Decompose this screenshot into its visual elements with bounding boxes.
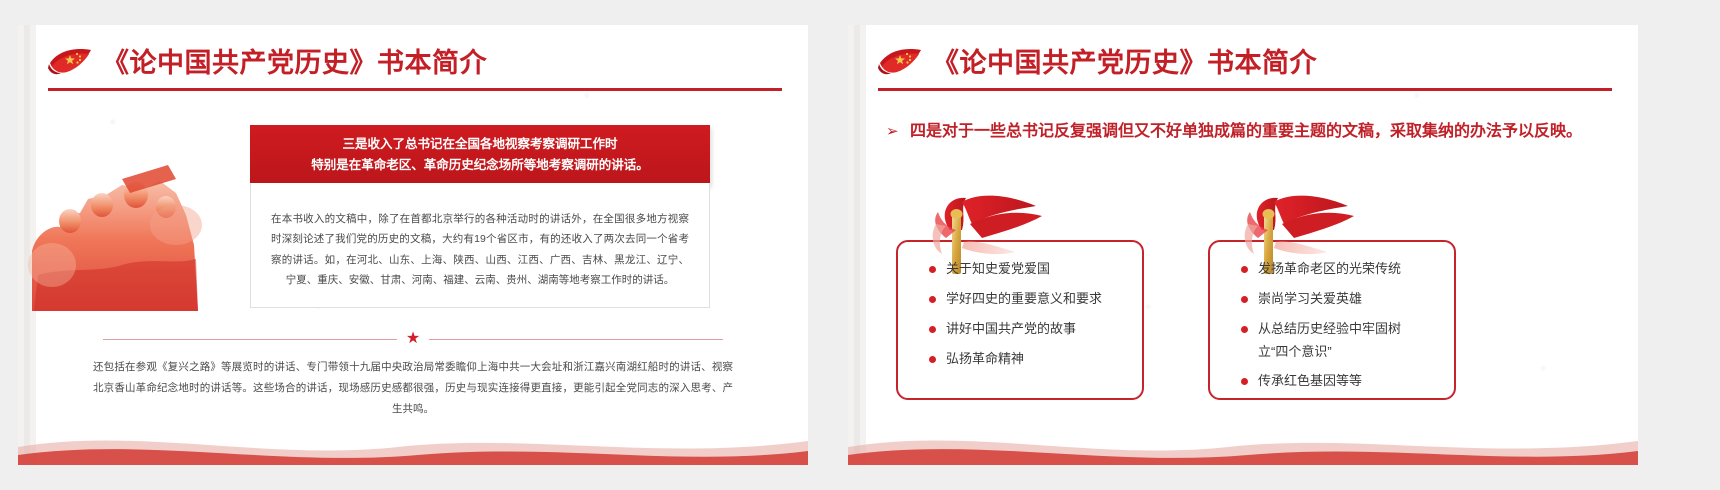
body-text-box: 在本书收入的文稿中，除了在首都北京举行的各种活动时的讲话外，在全国很多地方视察时… xyxy=(250,183,710,308)
slide-right: 《论中国共产党历史》书本简介 ➢ 四是对于一些总书记反复强调但又不好单独成篇的重… xyxy=(848,25,1638,465)
page-title: 《论中国共产党历史》书本简介 xyxy=(932,41,1317,80)
chevron-right-icon: ➢ xyxy=(886,118,899,146)
bullet-dot-icon xyxy=(929,326,936,333)
slide-left: 《论中国共产党历史》书本简介 xyxy=(18,25,808,465)
red-highlight-banner: 三是收入了总书记在全国各地视察考察调研工作时 特别是在革命老区、革命历史纪念场所… xyxy=(250,125,710,185)
list-item-label: 崇尚学习关爱英雄 xyxy=(1258,291,1362,306)
list-item: 弘扬革命精神 xyxy=(946,350,1142,369)
bullet-dot-icon xyxy=(1241,296,1248,303)
list-item: 崇尚学习关爱英雄 xyxy=(1258,290,1454,309)
list-item: 发扬革命老区的光荣传统 xyxy=(1258,260,1454,279)
list-item-label: 讲好中国共产党的故事 xyxy=(946,321,1076,336)
left-gutter-strip xyxy=(848,25,866,465)
list-item: 关于知史爱党爱国 xyxy=(946,260,1142,279)
list-item-label: 发扬革命老区的光荣传统 xyxy=(1258,261,1401,276)
topic-card-right: 发扬革命老区的光荣传统 崇尚学习关爱英雄 从总结历史经验中牢固树 立“四个意识”… xyxy=(1208,240,1456,400)
bullet-dot-icon xyxy=(929,356,936,363)
header-underline xyxy=(878,88,1612,91)
bullet-dot-icon xyxy=(929,296,936,303)
list-item: 学好四史的重要意义和要求 xyxy=(946,290,1142,309)
slide-right-header: 《论中国共产党历史》书本简介 xyxy=(878,39,1612,99)
banner-line-1: 三是收入了总书记在全国各地视察考察调研工作时 xyxy=(264,134,696,155)
footnote-paragraph: 还包括在参观《复兴之路》等展览时的讲话、专门带领十九届中央政治局常委瞻仰上海中共… xyxy=(93,357,733,420)
page-title: 《论中国共产党历史》书本简介 xyxy=(102,41,487,80)
star-divider: ★ xyxy=(103,332,723,346)
body-paragraph: 在本书收入的文稿中，除了在首都北京举行的各种活动时的讲话外，在全国很多地方视察时… xyxy=(271,209,689,291)
divider-line-left xyxy=(103,339,397,340)
slide-pair-canvas: 《论中国共产党历史》书本简介 xyxy=(0,0,1720,490)
topic-list: 发扬革命老区的光荣传统 崇尚学习关爱英雄 从总结历史经验中牢固树 立“四个意识”… xyxy=(1210,242,1454,391)
list-item-label: 传承红色基因等等 xyxy=(1258,373,1362,388)
slide-left-header: 《论中国共产党历史》书本简介 xyxy=(48,39,782,99)
list-item-continuation: 立“四个意识” xyxy=(1258,343,1454,362)
bullet-dot-icon xyxy=(1241,378,1248,385)
bullet-dot-icon xyxy=(929,266,936,273)
bottom-wave-decoration xyxy=(18,413,808,465)
header-underline xyxy=(48,88,782,91)
chinese-flag-icon xyxy=(48,45,94,77)
bullet-dot-icon xyxy=(1241,326,1248,333)
list-item: 传承红色基因等等 xyxy=(1258,372,1454,391)
list-item-label: 学好四史的重要意义和要求 xyxy=(946,291,1102,306)
revolutionary-figures-silhouette xyxy=(26,155,206,315)
list-item: 讲好中国共产党的故事 xyxy=(946,320,1142,339)
list-item-label: 立“四个意识” xyxy=(1258,344,1332,359)
topic-card-left: 关于知史爱党爱国 学好四史的重要意义和要求 讲好中国共产党的故事 弘扬革命精神 xyxy=(896,240,1144,400)
list-item: 从总结历史经验中牢固树 xyxy=(1258,320,1454,339)
chinese-flag-icon xyxy=(878,45,924,77)
lead-statement: ➢ 四是对于一些总书记反复强调但又不好单独成篇的重要主题的文稿，采取集纳的办法予… xyxy=(886,117,1604,147)
list-item-label: 弘扬革命精神 xyxy=(946,351,1024,366)
lead-statement-text: 四是对于一些总书记反复强调但又不好单独成篇的重要主题的文稿，采取集纳的办法予以反… xyxy=(886,117,1604,147)
bottom-wave-decoration xyxy=(848,413,1638,465)
list-item-label: 从总结历史经验中牢固树 xyxy=(1258,321,1401,336)
topic-list: 关于知史爱党爱国 学好四史的重要意义和要求 讲好中国共产党的故事 弘扬革命精神 xyxy=(898,242,1142,368)
topic-card-group: 关于知史爱党爱国 学好四史的重要意义和要求 讲好中国共产党的故事 弘扬革命精神 xyxy=(896,240,1456,400)
red-star-icon: ★ xyxy=(406,332,420,346)
banner-line-2: 特别是在革命老区、革命历史纪念场所等地考察调研的讲话。 xyxy=(264,155,696,176)
list-item-label: 关于知史爱党爱国 xyxy=(946,261,1050,276)
divider-line-right xyxy=(429,339,723,340)
bullet-dot-icon xyxy=(1241,266,1248,273)
